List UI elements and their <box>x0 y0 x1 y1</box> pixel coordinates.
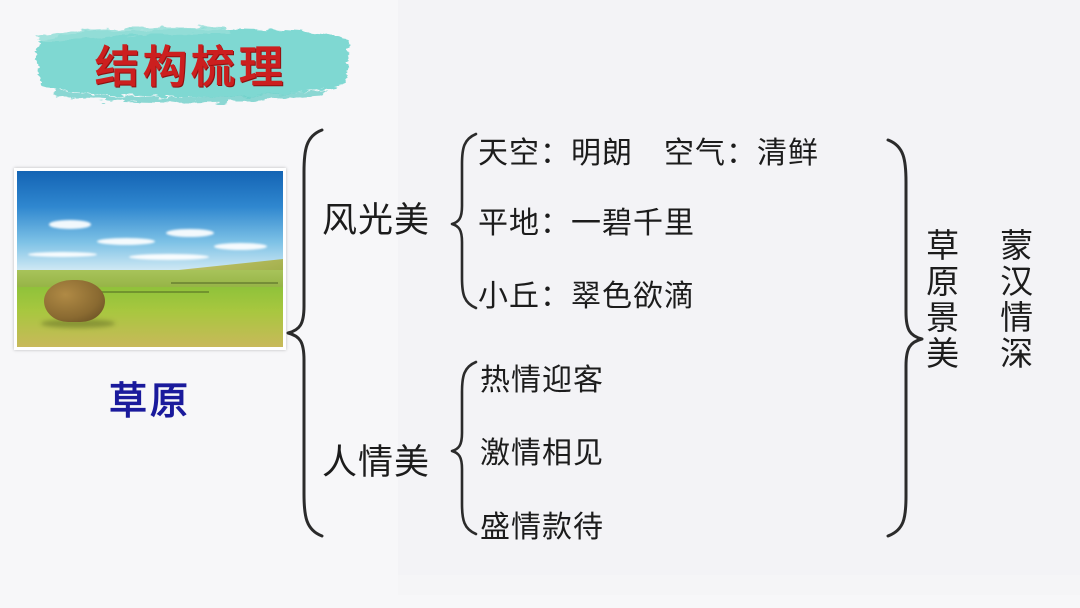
slide-title-block: 结构梳理 <box>26 20 356 106</box>
grassland-photo <box>14 168 286 350</box>
leaf-1-0: 热情迎客 <box>480 355 604 399</box>
background-band-bottom <box>0 595 1080 608</box>
photo-field-line <box>171 282 277 284</box>
leaf-0-0: 天空：明朗 空气：清鲜 <box>478 128 819 172</box>
grassland-photo-image <box>17 171 283 347</box>
photo-hay-bale <box>44 280 105 322</box>
photo-field-line <box>86 291 208 293</box>
photo-cloud <box>129 254 209 260</box>
leaf-0-1: 平地：一碧千里 <box>478 198 695 242</box>
subject-caption: 草原 <box>14 370 286 425</box>
slide-canvas: 结构梳理 草原 风光美 天空：明 <box>0 0 1080 608</box>
leaf-1-1: 激情相见 <box>480 428 604 472</box>
conclusion-1: 蒙汉情深 <box>996 228 1032 448</box>
branch-brace-0 <box>448 130 482 312</box>
conclusion-0: 草原景美 <box>922 228 958 448</box>
branch-label-0: 风光美 <box>322 192 430 243</box>
branch-brace-1 <box>448 358 482 538</box>
leaf-0-2: 小丘：翠色欲滴 <box>478 271 695 315</box>
branch-label-1: 人情美 <box>322 434 430 485</box>
photo-cloud <box>166 229 214 237</box>
leaf-1-2: 盛情款待 <box>480 502 604 546</box>
photo-cloud <box>97 238 156 245</box>
page-title: 结构梳理 <box>26 20 356 106</box>
